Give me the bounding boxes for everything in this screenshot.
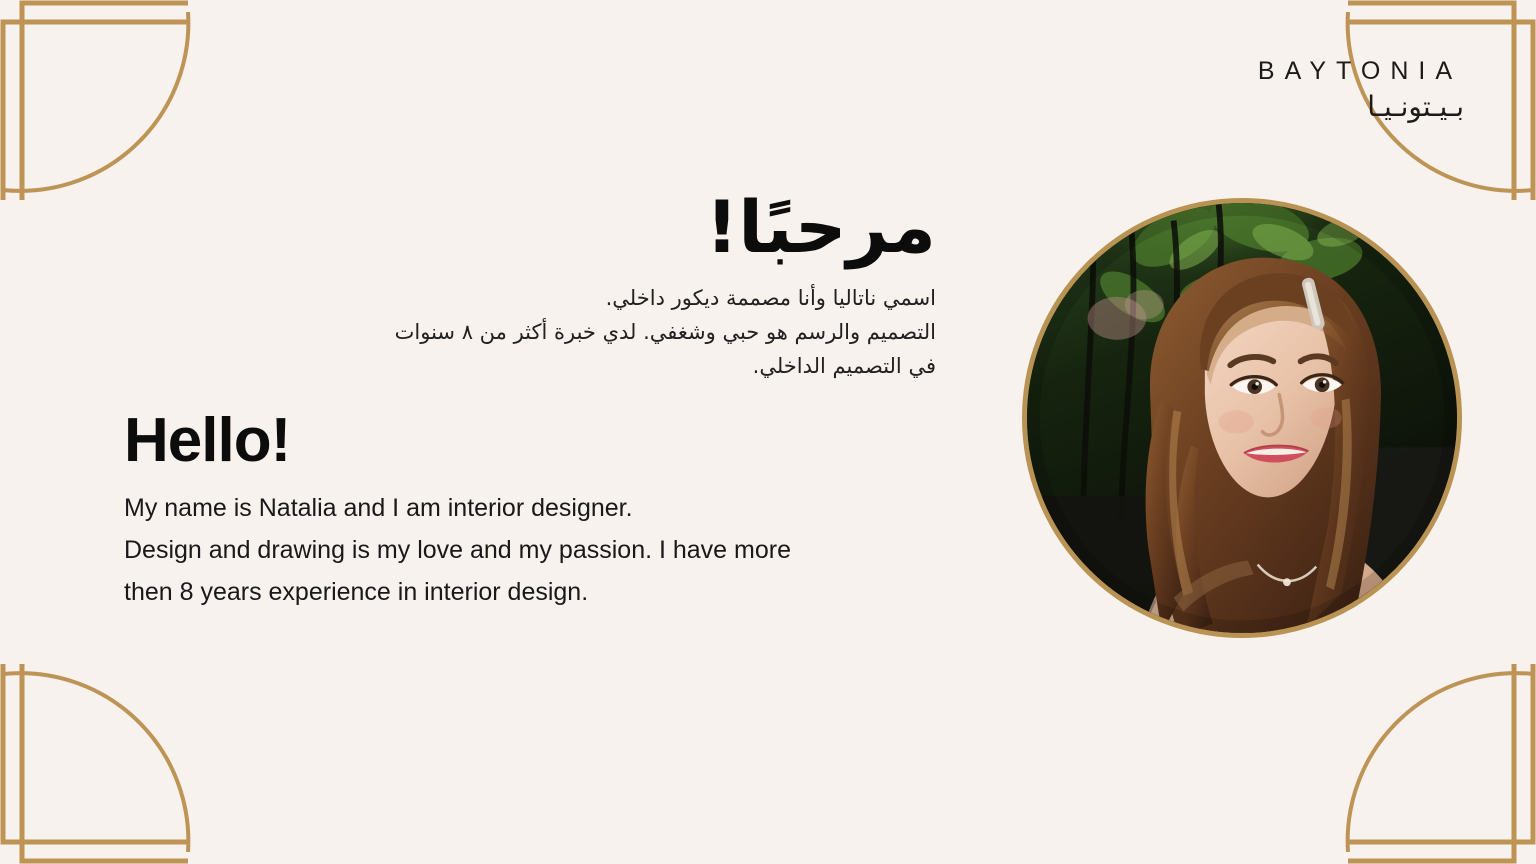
english-intro-line: then 8 years experience in interior desi… (124, 571, 936, 613)
arabic-intro-line: التصميم والرسم هو حبي وشغفي. لدي خبرة أك… (96, 315, 936, 349)
brand-logo-latin: BAYTONIA (1164, 58, 1464, 86)
intro-content: مرحبًا! اسمي ناتاليا وأنا مصممة ديكور دا… (96, 186, 936, 613)
arabic-intro-line: اسمي ناتاليا وأنا مصممة ديكور داخلي. (96, 281, 936, 315)
english-intro-line: My name is Natalia and I am interior des… (124, 487, 936, 529)
english-greeting-heading: Hello! (124, 407, 936, 475)
brand-logo: BAYTONIA بـيـتونـيـا (1164, 58, 1464, 125)
slide-canvas: BAYTONIA بـيـتونـيـا مرحبًا! اسمي ناتالي… (0, 0, 1536, 864)
corner-frame-bottom-left (0, 664, 200, 864)
brand-logo-arabic: بـيـتونـيـا (1164, 88, 1464, 126)
arabic-greeting-heading: مرحبًا! (96, 186, 936, 269)
english-intro-line: Design and drawing is my love and my pas… (124, 529, 936, 571)
portrait-photo (1027, 203, 1457, 633)
corner-frame-bottom-right (1336, 664, 1536, 864)
english-intro-block: Hello! My name is Natalia and I am inter… (96, 407, 936, 613)
corner-frame-top-left (0, 0, 200, 200)
arabic-intro-block: مرحبًا! اسمي ناتاليا وأنا مصممة ديكور دا… (96, 186, 936, 383)
portrait-photo-frame (1022, 198, 1462, 638)
arabic-intro-paragraph: اسمي ناتاليا وأنا مصممة ديكور داخلي. الت… (96, 281, 936, 383)
arabic-intro-line: في التصميم الداخلي. (96, 349, 936, 383)
english-intro-paragraph: My name is Natalia and I am interior des… (124, 487, 936, 613)
